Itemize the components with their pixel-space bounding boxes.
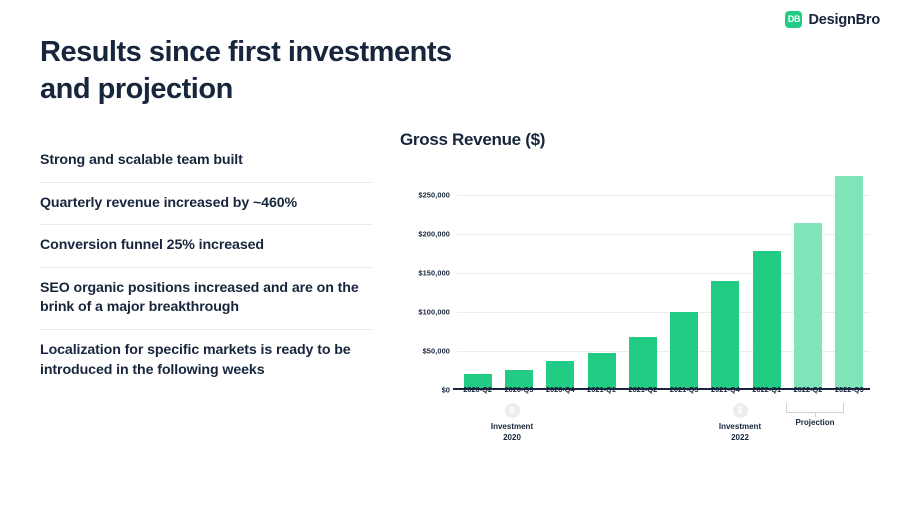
annotation-investment-2020: $ Investment 2020 xyxy=(467,403,557,444)
page-title-line-2: and projection xyxy=(40,71,560,108)
dollar-circle-icon: $ xyxy=(505,403,520,418)
chart-bar[interactable] xyxy=(629,337,657,390)
chart-x-tick-label: 2021-Q4 xyxy=(705,385,746,394)
chart-x-tick-label: 2021-Q1 xyxy=(581,385,622,394)
chart-bar-slot xyxy=(787,172,828,390)
highlights-list: Strong and scalable team built Quarterly… xyxy=(40,140,372,391)
chart-x-tick-label: 2021-Q2 xyxy=(622,385,663,394)
chart-bar[interactable] xyxy=(835,176,863,390)
chart-bar[interactable] xyxy=(711,281,739,390)
annotation-projection: Projection xyxy=(770,403,860,429)
page-title-line-1: Results since first investments xyxy=(40,34,560,71)
chart-bar-slot xyxy=(540,172,581,390)
chart-bar-slot xyxy=(705,172,746,390)
list-item: Strong and scalable team built xyxy=(40,140,372,182)
gross-revenue-bar-chart: $0$50,000$100,000$150,000$200,000$250,00… xyxy=(400,165,870,390)
annotation-label: Projection xyxy=(770,418,860,429)
chart-bar[interactable] xyxy=(794,223,822,390)
chart-bar[interactable] xyxy=(753,251,781,390)
chart-bar-slot xyxy=(581,172,622,390)
chart-y-tick-label: $50,000 xyxy=(423,347,450,356)
chart-x-tick-label: 2022-Q3 xyxy=(829,385,870,394)
chart-y-tick-label: $200,000 xyxy=(418,230,450,239)
chart-y-tick-label: $150,000 xyxy=(418,269,450,278)
annotation-label-line-2: 2020 xyxy=(467,433,557,444)
chart-bar-slot xyxy=(457,172,498,390)
chart-plot-area: $0$50,000$100,000$150,000$200,000$250,00… xyxy=(457,172,870,390)
chart-x-tick-label: 2021-Q3 xyxy=(663,385,704,394)
chart-bar[interactable] xyxy=(670,312,698,390)
projection-bracket-icon xyxy=(786,403,844,413)
annotation-label-line-1: Investment xyxy=(467,422,557,433)
list-item: Localization for specific markets is rea… xyxy=(40,329,372,391)
chart-y-tick-label: $100,000 xyxy=(418,308,450,317)
chart-x-tick-label: 2020-Q3 xyxy=(498,385,539,394)
designbro-logo-text: DesignBro xyxy=(808,12,880,28)
chart-bar-slot xyxy=(746,172,787,390)
annotation-label: Investment 2020 xyxy=(467,422,557,444)
page-title: Results since first investments and proj… xyxy=(40,34,560,107)
dollar-circle-icon: $ xyxy=(733,403,748,418)
chart-x-tick-label: 2020-Q2 xyxy=(457,385,498,394)
chart-y-tick-label: $0 xyxy=(442,386,450,395)
annotation-label-line-2: 2022 xyxy=(695,433,785,444)
list-item: SEO organic positions increased and are … xyxy=(40,267,372,329)
chart-bar-slot xyxy=(829,172,870,390)
chart-y-tick-label: $250,000 xyxy=(418,191,450,200)
chart-bars xyxy=(457,172,870,390)
chart-title: Gross Revenue ($) xyxy=(400,130,545,150)
chart-bar-slot xyxy=(663,172,704,390)
chart-x-tick-label: 2020-Q4 xyxy=(540,385,581,394)
list-item: Conversion funnel 25% increased xyxy=(40,224,372,267)
chart-bar-slot xyxy=(498,172,539,390)
designbro-logo: DB DesignBro xyxy=(785,11,880,28)
designbro-logo-mark-icon: DB xyxy=(785,11,802,28)
chart-bar-slot xyxy=(622,172,663,390)
chart-x-axis-labels: 2020-Q22020-Q32020-Q42021-Q12021-Q22021-… xyxy=(457,385,870,394)
chart-x-tick-label: 2022-Q1 xyxy=(746,385,787,394)
chart-x-tick-label: 2022-Q2 xyxy=(787,385,828,394)
list-item: Quarterly revenue increased by ~460% xyxy=(40,182,372,225)
